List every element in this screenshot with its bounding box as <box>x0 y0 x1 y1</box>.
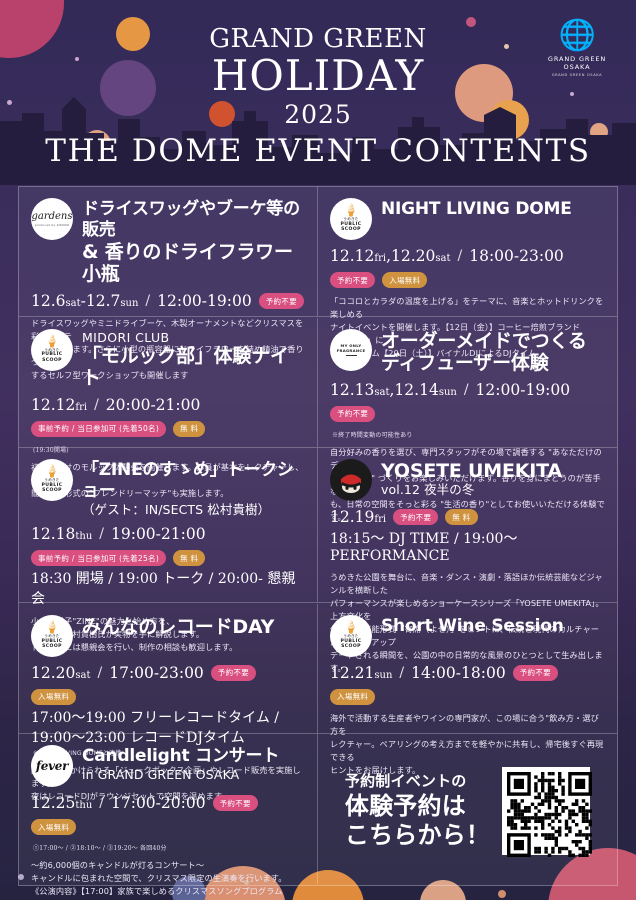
event-dateline: 12.19fri予約不要無 料 <box>330 508 605 526</box>
daruma-face-icon <box>338 469 364 493</box>
description-line: キャンドルに包まれた空間で、クリスマス限定の生演奏を行います。 <box>31 872 305 885</box>
event-card[interactable]: 🍦 うめきた PUBLIC SCOOP Short Wine Session 1… <box>318 604 617 734</box>
event-card-header: YOSETE UMEKITA vol.12 夜半の冬 <box>330 459 605 501</box>
ice-cream-scoop-icon: 🍦 <box>344 622 359 633</box>
badge-pink: 予約不要 <box>330 272 375 288</box>
event-subtitle: in GRAND GREEN OSAKA <box>82 767 305 783</box>
event-card-header: MY ONLY FRAGRANCE オーダーメイドでつくる ディフューザー体験 <box>330 329 605 374</box>
reservation-line1: 予約制イベントの <box>345 774 490 789</box>
event-time-note: ①17:00〜 / ②18:10〜 / ③19:20〜 各回40分 <box>31 843 305 852</box>
poster-title: GRAND GREEN HOLIDAY 2025 <box>0 24 636 132</box>
event-logo-public-scoop: 🍦 うめきた PUBLIC SCOOP <box>31 459 73 501</box>
date-time-separator: / <box>98 665 103 681</box>
date-time-separator: / <box>145 293 150 309</box>
ice-cream-scoop-icon: 🍦 <box>45 466 60 477</box>
event-card-header: 🍦 うめきた PUBLIC SCOOP 「ZINEのすゝめ」トークショー （ゲス… <box>31 459 305 518</box>
logo-text-scoop: SCOOP <box>341 644 361 649</box>
event-title-block: YOSETE UMEKITA vol.12 夜半の冬 <box>381 459 605 498</box>
event-logo-public-scoop: 🍦 うめきた PUBLIC SCOOP <box>31 615 73 657</box>
event-time: 19:00-21:00 <box>111 525 206 543</box>
logo-text-fever: fever <box>36 759 68 773</box>
ice-cream-scoop-icon: 🍦 <box>45 622 60 633</box>
event-time: 17:00-20:00 <box>111 794 206 812</box>
badge-gold: 入場無料 <box>31 819 76 835</box>
description-line: 〜約6,000個のキャンドルが灯るコンサート〜 <box>31 859 305 872</box>
qr-code[interactable] <box>502 767 590 855</box>
logo-text-scoop: SCOOP <box>42 644 62 649</box>
date-time-separator: / <box>99 795 104 811</box>
event-title-block: Short Wine Session <box>381 615 605 637</box>
event-subtitle: vol.12 夜半の冬 <box>381 482 605 498</box>
badge-gold: 入場無料 <box>382 272 427 288</box>
badge-pink: 事前予約 / 当日参加可 (先着50名) <box>31 421 166 437</box>
event-title-block: NIGHT LIVING DOME <box>381 198 605 220</box>
poster-root: 🌐 GRAND GREEN OSAKA GRAND GREEN OSAKA GR… <box>0 0 636 900</box>
event-date: 12.12fri <box>31 396 87 414</box>
event-title-block: ドライスワッグやブーケ等の販売 & 香りのドライフラワー小瓶 <box>82 198 305 285</box>
event-title: オーダーメイドでつくる <box>381 330 605 352</box>
event-dateline: 12.13sat,12.14sun/12:00-19:00予約不要 ※終了時間変… <box>330 381 605 439</box>
section-title: THE DOME EVENT CONTENTS <box>0 133 636 169</box>
event-title-block: みんなのレコードDAY <box>82 615 305 638</box>
event-dateline: 12.25thu/17:00-20:00予約不要入場無料 ①17:00〜 / ②… <box>31 794 305 852</box>
event-time: 17:00-23:00 <box>109 664 204 682</box>
badge-pink: 予約不要 <box>259 293 304 309</box>
event-card[interactable]: 🍦 うめきた PUBLIC SCOOP MIDORI CLUB 「モルック部」体… <box>19 318 318 448</box>
event-description: 〜約6,000個のキャンドルが灯るコンサート〜キャンドルに包まれた空間で、クリス… <box>31 859 305 900</box>
event-logo-yosete-umekita <box>330 459 372 501</box>
event-title: YOSETE UMEKITA <box>381 460 605 482</box>
event-date: 12.20sat <box>31 664 91 682</box>
badge-pink: 予約不要 <box>330 406 375 422</box>
event-title: Candlelight コンサート <box>82 746 305 767</box>
event-logo-public-scoop: 🍦 うめきた PUBLIC SCOOP <box>330 198 372 240</box>
event-card[interactable]: 🍦 うめきた PUBLIC SCOOP みんなのレコードDAY 12.20sat… <box>19 604 318 734</box>
event-card-header: gardens produced by KIKUNO ドライスワッグやブーケ等の… <box>31 198 305 285</box>
event-title: NIGHT LIVING DOME <box>381 199 605 220</box>
event-schedule-line: 18:15〜 DJ TIME / 19:00〜 PERFORMANCE <box>330 528 605 564</box>
event-dateline: 12.18thu/19:00-21:00事前予約 / 当日参加可 (先着25名)… <box>31 525 305 566</box>
event-title-block: 「ZINEのすゝめ」トークショー （ゲスト：IN/SECTS 松村貴樹） <box>82 459 305 518</box>
event-date: 12.25thu <box>31 794 92 812</box>
event-date: 12.12fri,12.20sat <box>330 247 451 265</box>
description-line: うめきた公園を舞台に、音楽・ダンス・演劇・落語ほか伝統芸能などジャンルを横断した <box>330 571 605 597</box>
event-card-header: fever Candlelight コンサート in GRAND GREEN O… <box>31 745 305 787</box>
event-subtitle: （ゲスト：IN/SECTS 松村貴樹） <box>82 502 305 518</box>
event-dateline: 12.20sat/17:00-23:00予約不要入場無料 <box>31 664 305 705</box>
date-time-separator: / <box>399 665 404 681</box>
badge-gold: 無 料 <box>173 550 205 566</box>
badge-pink: 予約不要 <box>211 665 256 681</box>
poster-header: 🌐 GRAND GREEN OSAKA GRAND GREEN OSAKA GR… <box>0 0 636 185</box>
event-date: 12.6sat-12.7sun <box>31 292 138 310</box>
date-time-separator: / <box>94 397 99 413</box>
event-schedule-line: 18:30 開場 / 19:00 トーク / 20:00- 懇親会 <box>31 568 305 608</box>
logo-text-scoop: SCOOP <box>341 227 361 232</box>
event-card[interactable]: fever Candlelight コンサート in GRAND GREEN O… <box>19 734 318 884</box>
reservation-line3: こちらから！ <box>345 823 490 847</box>
event-card[interactable]: 🍦 うめきた PUBLIC SCOOP 「ZINEのすゝめ」トークショー （ゲス… <box>19 448 318 603</box>
description-line: 《公演内容》【17:00】家族で楽しめるクリスマスソングプログラム 【18:10… <box>31 885 305 900</box>
title-line-year: 2025 <box>0 98 636 132</box>
event-card[interactable]: 🍦 うめきた PUBLIC SCOOP NIGHT LIVING DOME 12… <box>318 187 617 317</box>
badge-pink: 予約不要 <box>513 665 558 681</box>
event-time: 12:00-19:00 <box>157 292 252 310</box>
logo-text-primary: gardens <box>31 212 72 222</box>
date-time-separator: / <box>99 526 104 542</box>
date-time-separator: / <box>458 248 463 264</box>
event-time: 12:00-19:00 <box>476 381 571 399</box>
event-card-header: 🍦 うめきた PUBLIC SCOOP MIDORI CLUB 「モルック部」体… <box>31 329 305 389</box>
event-logo-fever: fever <box>31 745 73 787</box>
ice-cream-scoop-icon: 🍦 <box>344 205 359 216</box>
event-time: 14:00-18:00 <box>411 664 506 682</box>
event-card[interactable]: YOSETE UMEKITA vol.12 夜半の冬 12.19fri予約不要無… <box>318 448 617 603</box>
event-card[interactable]: gardens produced by KIKUNO ドライスワッグやブーケ等の… <box>19 187 318 317</box>
event-dateline: 12.12fri,12.20sat/18:00-23:00予約不要入場無料 <box>330 247 605 288</box>
logo-text-fragrance: FRAGRANCE <box>337 348 366 353</box>
event-date: 12.18thu <box>31 525 92 543</box>
logo-text-scoop: SCOOP <box>42 488 62 493</box>
event-title: 「モルック部」体験ナイト <box>82 345 305 389</box>
event-grid: gardens produced by KIKUNO ドライスワッグやブーケ等の… <box>18 186 618 886</box>
event-card-header: 🍦 うめきた PUBLIC SCOOP みんなのレコードDAY <box>31 615 305 657</box>
event-title: ドライスワッグやブーケ等の販売 <box>82 199 305 241</box>
event-title-line2: & 香りのドライフラワー小瓶 <box>82 241 305 285</box>
event-dateline: 12.6sat-12.7sun/12:00-19:00予約不要 <box>31 292 305 310</box>
event-time: 20:00-21:00 <box>106 396 201 414</box>
badge-gold: 無 料 <box>445 509 477 525</box>
title-line-grand-green: GRAND GREEN <box>0 24 636 54</box>
event-title-block: MIDORI CLUB 「モルック部」体験ナイト <box>82 329 305 389</box>
ice-cream-scoop-icon: 🍦 <box>45 336 60 347</box>
event-logo-public-scoop: 🍦 うめきた PUBLIC SCOOP <box>31 329 73 371</box>
badge-pink: 予約不要 <box>213 795 258 811</box>
event-logo-my-only-fragrance: MY ONLY FRAGRANCE <box>330 329 372 371</box>
event-dateline: 12.21sun/14:00-18:00予約不要入場無料 <box>330 664 605 705</box>
event-title: 「ZINEのすゝめ」トークショー <box>82 460 305 502</box>
event-date: 12.19fri <box>330 508 386 526</box>
event-pretitle: MIDORI CLUB <box>82 330 305 345</box>
event-date: 12.21sun <box>330 664 392 682</box>
event-title-block: Candlelight コンサート in GRAND GREEN OSAKA <box>82 745 305 783</box>
event-title: みんなのレコードDAY <box>82 616 305 638</box>
badge-pink: 事前予約 / 当日参加可 (先着25名) <box>31 550 166 566</box>
title-line-holiday: HOLIDAY <box>0 54 636 98</box>
event-card-header: 🍦 うめきた PUBLIC SCOOP NIGHT LIVING DOME <box>330 198 605 240</box>
event-time: 18:00-23:00 <box>469 247 564 265</box>
event-card-header: 🍦 うめきた PUBLIC SCOOP Short Wine Session <box>330 615 605 657</box>
reservation-line2: 体験予約は <box>345 794 490 818</box>
logo-text-secondary: produced by KIKUNO <box>35 223 70 227</box>
badge-gold: 入場無料 <box>330 689 375 705</box>
event-card[interactable]: MY ONLY FRAGRANCE オーダーメイドでつくる ディフューザー体験 … <box>318 318 617 448</box>
reservation-text: 予約制イベントの 体験予約は こちらから！ <box>345 774 490 847</box>
blob-bottom-dot3 <box>498 890 506 898</box>
badge-gold: 入場無料 <box>31 689 76 705</box>
badge-pink: 予約不要 <box>393 509 438 525</box>
event-time-note: ※終了時間変動の可能性あり <box>330 430 605 439</box>
reservation-cta[interactable]: 予約制イベントの 体験予約は こちらから！ <box>318 734 617 884</box>
event-title-line2: ディフューザー体験 <box>381 352 605 374</box>
date-time-separator: / <box>464 382 469 398</box>
badge-gold: 無 料 <box>173 421 205 437</box>
event-dateline: 12.12fri/20:00-21:00事前予約 / 当日参加可 (先着50名)… <box>31 396 305 454</box>
event-logo-gardens: gardens produced by KIKUNO <box>31 198 73 240</box>
logo-text-scoop: SCOOP <box>42 358 62 363</box>
logo-divider <box>346 355 357 356</box>
event-title: Short Wine Session <box>381 616 605 637</box>
event-date: 12.13sat,12.14sun <box>330 381 457 399</box>
event-logo-public-scoop: 🍦 うめきた PUBLIC SCOOP <box>330 615 372 657</box>
event-title-block: オーダーメイドでつくる ディフューザー体験 <box>381 329 605 374</box>
